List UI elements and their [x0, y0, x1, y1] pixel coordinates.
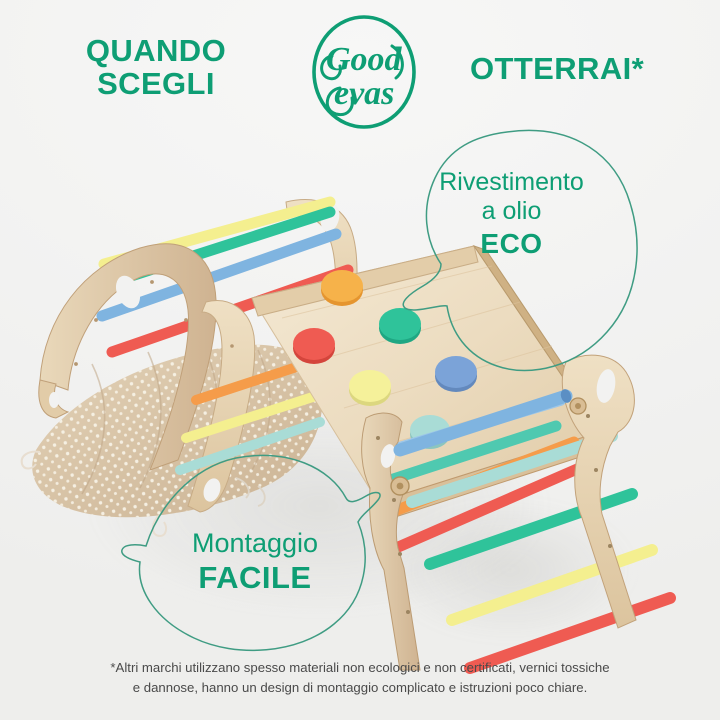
logo-word-bottom: evas	[334, 75, 394, 112]
headline-left: QUANDO SCEGLI	[56, 34, 256, 101]
callout-montaggio-line1: Montaggio	[192, 528, 318, 558]
headline-right: OTTERRAI*	[470, 52, 680, 85]
callout-eco-line2: a olio	[482, 197, 542, 225]
callout-montaggio-text: Montaggio FACILE	[140, 528, 370, 596]
footnote: *Altri marchi utilizzano spesso material…	[56, 658, 664, 699]
promo-banner: QUANDO SCEGLI Good evas OTTERRAI* Rivest…	[0, 0, 720, 720]
headline-left-line2: SCEGLI	[97, 66, 215, 101]
callout-eco-line3: ECO	[404, 228, 619, 260]
brand-logo[interactable]: Good evas	[296, 12, 432, 132]
callout-montaggio-line2: FACILE	[140, 560, 370, 596]
callout-eco-text: Rivestimento a olio ECO	[404, 168, 619, 260]
callout-eco-line1: Rivestimento	[439, 168, 584, 196]
headline-left-line1: QUANDO	[86, 33, 226, 68]
footnote-line2: e dannose, hanno un design di montaggio …	[133, 680, 588, 695]
footnote-line1: *Altri marchi utilizzano spesso material…	[110, 660, 609, 675]
